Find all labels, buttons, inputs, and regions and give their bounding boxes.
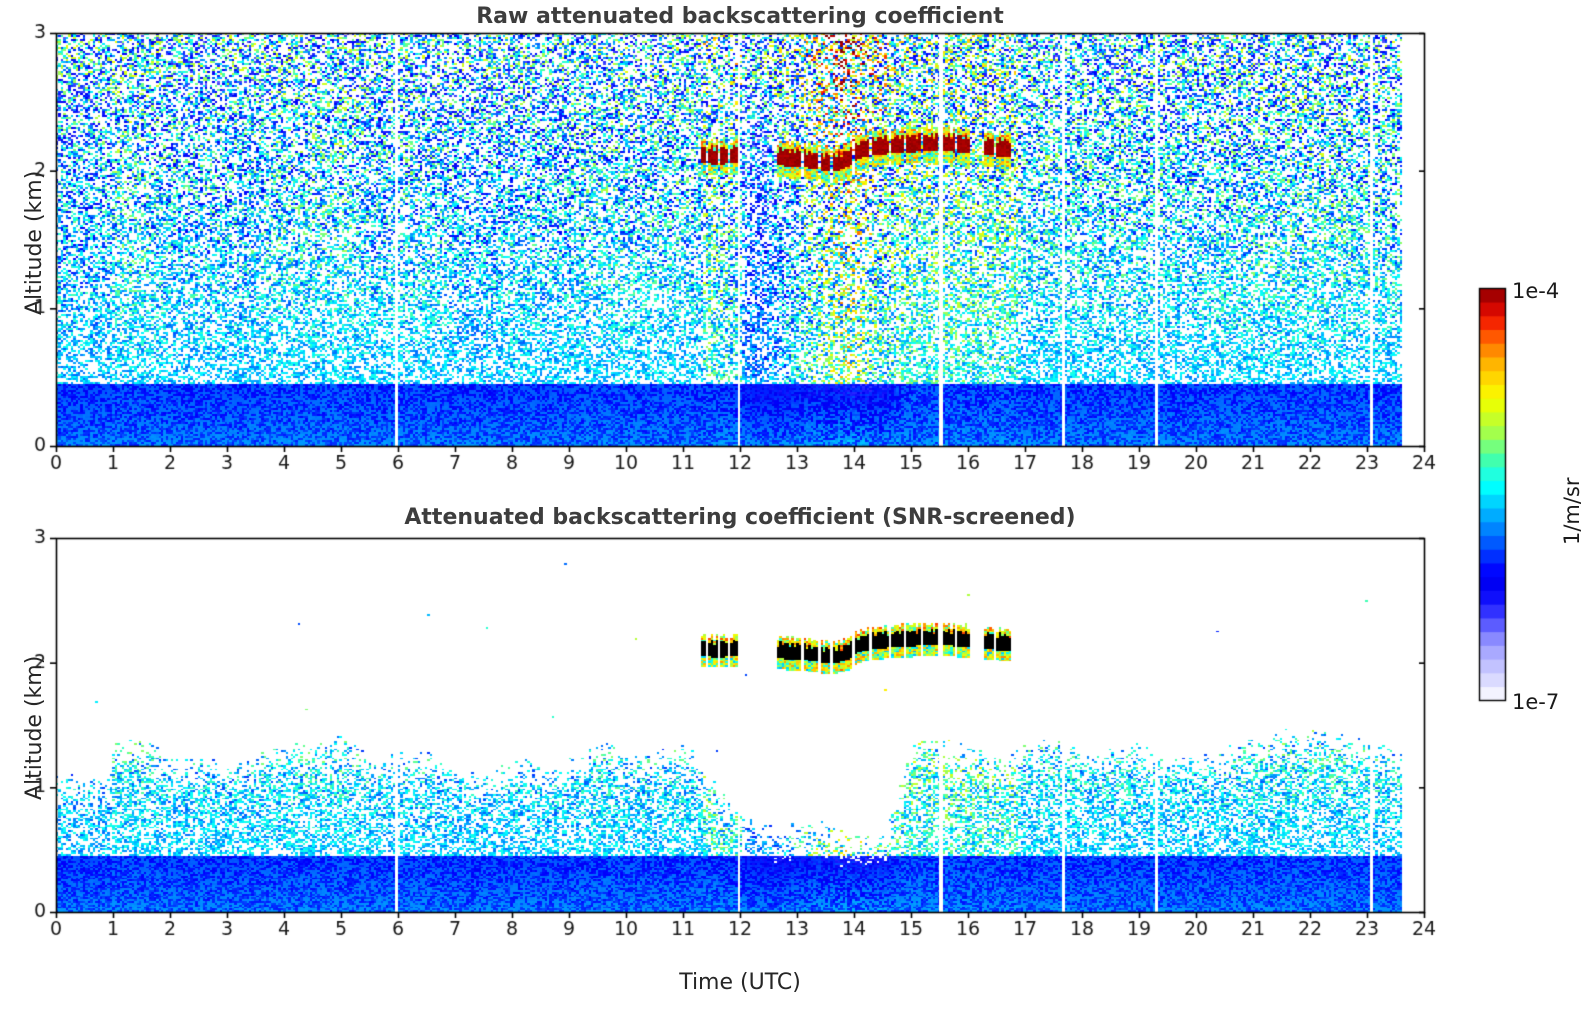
figure-container: Raw attenuated backscattering coefficien… — [0, 0, 1595, 1020]
lidar-timeheight-plot-canvas — [0, 0, 1595, 1020]
